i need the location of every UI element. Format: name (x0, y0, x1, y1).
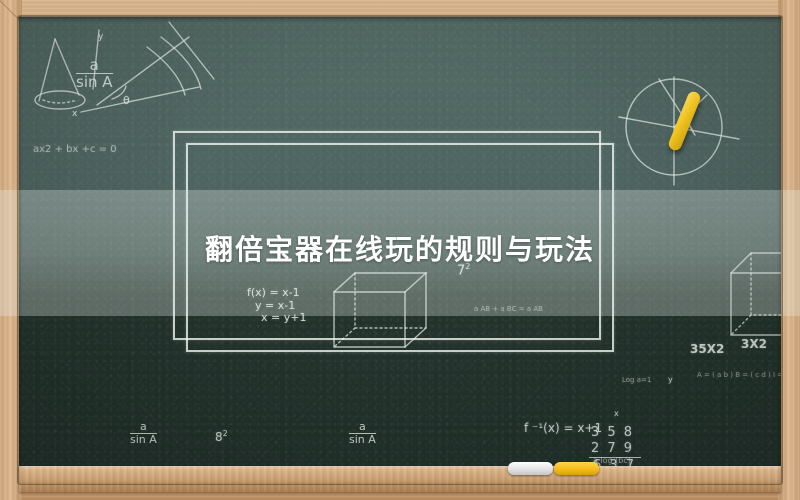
banner-stage: a sin A ax2 + bx +c = 0 y x θ f(x) = x-1… (0, 0, 800, 500)
frame-inner-shadow (18, 16, 782, 484)
